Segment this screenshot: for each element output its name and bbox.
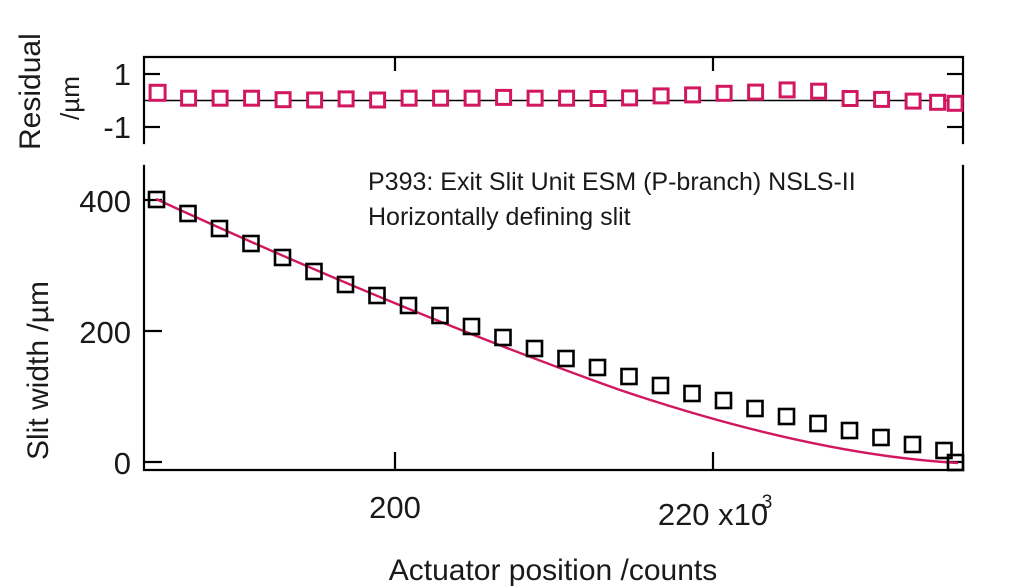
residual-point [749, 85, 763, 99]
data-point [779, 409, 794, 424]
residual-point [948, 96, 962, 110]
residual-point [497, 90, 511, 104]
data-point [559, 351, 574, 366]
data-point [653, 378, 668, 393]
residual-point [245, 91, 259, 105]
main-ytick-label-0: 0 [114, 446, 131, 481]
residual-point [654, 89, 668, 103]
main-ytick-label-200: 200 [79, 315, 131, 350]
residual-markers [150, 83, 962, 110]
data-point [874, 430, 889, 445]
main-xtick-exponent: 3 [762, 492, 773, 513]
data-point [527, 341, 542, 356]
data-point [590, 360, 605, 375]
residual-point [528, 91, 542, 105]
residual-point [465, 91, 479, 105]
data-point [716, 393, 731, 408]
residual-axis-label-line1: Residual [14, 33, 47, 150]
fit-line [156, 199, 958, 463]
data-point [811, 416, 826, 431]
main-ytick-label-400: 400 [79, 184, 131, 219]
residual-point [308, 93, 322, 107]
residual-point [906, 94, 920, 108]
residual-panel: 1 -1 Residual /µm [14, 33, 963, 150]
data-point [748, 401, 763, 416]
residual-point [402, 91, 416, 105]
residual-axis-label-line2: /µm [55, 76, 85, 120]
figure-container: 1 -1 Residual /µm [0, 0, 1024, 588]
residual-point [812, 84, 826, 98]
title-line-2: Horizontally defining slit [368, 203, 631, 231]
data-point [842, 423, 857, 438]
residual-ytick-label-1: 1 [114, 57, 131, 92]
main-yaxis-label: Slit width /µm [22, 281, 55, 460]
data-point [905, 437, 920, 452]
residual-point [717, 86, 731, 100]
residual-ytick-label-minus1: -1 [103, 110, 131, 145]
residual-point [434, 91, 448, 105]
residual-point [875, 92, 889, 106]
residual-point [623, 91, 637, 105]
residual-point [591, 92, 605, 106]
residual-point [686, 88, 700, 102]
chart-svg: 1 -1 Residual /µm [0, 0, 1024, 588]
residual-point [843, 92, 857, 106]
data-markers [149, 192, 963, 470]
main-xtick-label-220: 220 x10 [658, 497, 768, 532]
residual-point [339, 92, 353, 106]
residual-point [182, 91, 196, 105]
data-point [496, 330, 511, 345]
residual-point [150, 85, 165, 100]
residual-point [931, 95, 945, 109]
plot-title: P393: Exit Slit Unit ESM (P-branch) NSLS… [368, 168, 856, 231]
data-point [622, 369, 637, 384]
residual-point [560, 91, 574, 105]
residual-point [213, 91, 227, 105]
residual-point [276, 93, 290, 107]
main-xtick-label-200: 200 [369, 490, 421, 525]
residual-point [780, 83, 794, 97]
data-point [685, 386, 700, 401]
main-xaxis-label: Actuator position /counts [389, 554, 718, 587]
residual-point [371, 93, 385, 107]
title-line-1: P393: Exit Slit Unit ESM (P-branch) NSLS… [368, 168, 856, 196]
